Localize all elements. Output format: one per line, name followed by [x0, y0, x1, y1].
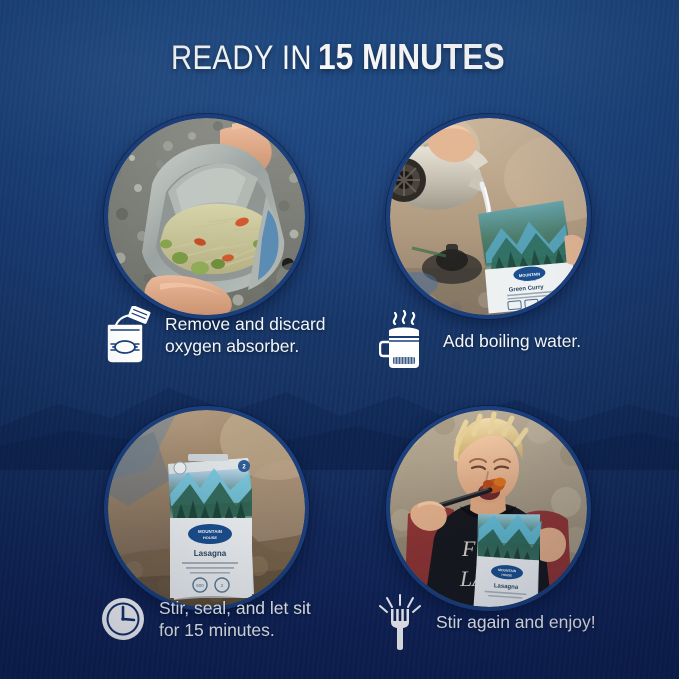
svg-text:MOUNTAIN: MOUNTAIN — [198, 529, 222, 534]
headline-bold-part: 15 MINUTES — [318, 36, 505, 78]
step-4-caption-text: Stir again and enjoy! — [436, 611, 596, 633]
step-2-caption-text: Add boiling water. — [443, 330, 581, 352]
step-1-photo-ring — [104, 114, 309, 319]
page-title: READY IN15 MINUTES — [0, 36, 679, 78]
step-3-caption-text: Stir, seal, and let sit for 15 minutes. — [159, 597, 311, 641]
step-4-photo-ring: F LA — [386, 406, 591, 611]
ready-in-15-minutes-infographic: READY IN15 MINUTES — [0, 0, 679, 679]
svg-text:600: 600 — [196, 583, 204, 588]
headline-light-part: READY IN — [171, 39, 312, 78]
step-1-caption: Remove and discard oxygen absorber. — [101, 306, 351, 364]
boy-eating-meal-photo: F LA — [390, 410, 587, 607]
fork-sparkle-icon — [378, 592, 424, 652]
step-2-caption: Add boiling water. — [379, 310, 629, 372]
steaming-mug-icon — [379, 310, 431, 372]
step-1-caption-text: Remove and discard oxygen absorber. — [165, 313, 326, 357]
svg-text:Lasagna: Lasagna — [194, 549, 227, 558]
step-3-caption: Stir, seal, and let sit for 15 minutes. — [99, 595, 349, 643]
clock-icon — [99, 595, 147, 643]
svg-text:HOUSE: HOUSE — [501, 573, 512, 578]
svg-text:F: F — [461, 536, 476, 561]
step-4-caption: Stir again and enjoy! — [378, 592, 628, 652]
step-3-photo-ring: 2 MOUNTAIN HOUSE — [104, 406, 309, 611]
oxygen-absorber-pouch-icon — [101, 306, 153, 364]
sealed-pouch-resting-photo: 2 MOUNTAIN HOUSE — [108, 410, 305, 607]
open-pouch-dry-food-photo — [108, 118, 305, 315]
pouring-boiling-water-photo: MOUNTAIN HOUSE Green Curry — [390, 118, 587, 315]
svg-text:HOUSE: HOUSE — [203, 535, 218, 540]
step-2-photo-ring: MOUNTAIN HOUSE Green Curry — [386, 114, 591, 319]
